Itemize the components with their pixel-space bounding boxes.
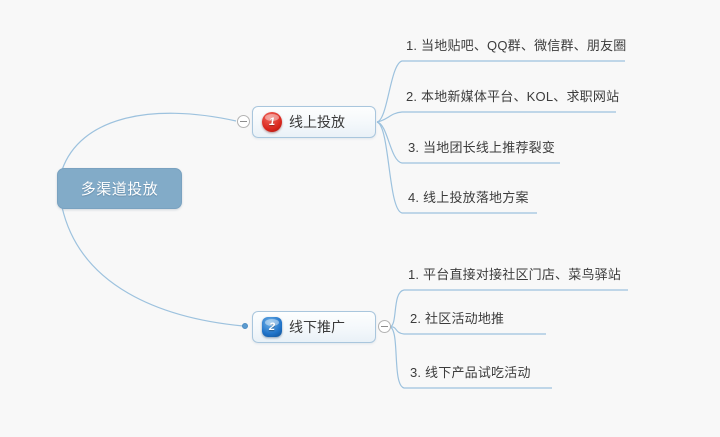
leaf-node[interactable]: 1. 当地贴吧、QQ群、微信群、朋友圈 <box>400 34 630 56</box>
leaf-node-label: 4. 线上投放落地方案 <box>402 187 533 208</box>
edge-branch-0-leaf-1 <box>377 112 616 122</box>
leaf-node[interactable]: 4. 线上投放落地方案 <box>402 186 533 208</box>
leaf-node[interactable]: 1. 平台直接对接社区门店、菜鸟驿站 <box>402 263 625 285</box>
leaf-node[interactable]: 3. 线下产品试吃活动 <box>404 361 535 383</box>
branch-node-label-offline: 线下推广 <box>289 317 345 337</box>
leaf-node-label: 2. 本地新媒体平台、KOL、求职网站 <box>400 86 623 107</box>
root-node[interactable]: 多渠道投放 <box>57 168 182 209</box>
branch-node-online[interactable]: 1 线上投放 <box>252 106 376 138</box>
leaf-node[interactable]: 2. 本地新媒体平台、KOL、求职网站 <box>400 85 623 107</box>
badge-number-2-icon: 2 <box>262 317 282 337</box>
edge-root-to-branch-0 <box>62 113 236 170</box>
collapse-toggle-icon-branch-0[interactable] <box>237 115 250 128</box>
mindmap-canvas: 多渠道投放 1 线上投放 1. 当地贴吧、QQ群、微信群、朋友圈 2. 本地新媒… <box>0 0 720 437</box>
leaf-node-label: 3. 线下产品试吃活动 <box>404 362 535 383</box>
badge-number-1-icon: 1 <box>262 112 282 132</box>
branch-node-offline[interactable]: 2 线下推广 <box>252 311 376 343</box>
leaf-node-label: 1. 平台直接对接社区门店、菜鸟驿站 <box>402 264 625 285</box>
branch-connector-dot <box>242 323 248 329</box>
leaf-node[interactable]: 3. 当地团长线上推荐裂变 <box>402 136 559 158</box>
leaf-node-label: 2. 社区活动地推 <box>404 308 508 329</box>
branch-node-label-online: 线上投放 <box>289 112 345 132</box>
collapse-toggle-icon-branch-1[interactable] <box>378 320 391 333</box>
leaf-node[interactable]: 2. 社区活动地推 <box>404 307 508 329</box>
edge-root-to-branch-1 <box>62 207 243 326</box>
root-node-label: 多渠道投放 <box>81 178 159 199</box>
leaf-node-label: 1. 当地贴吧、QQ群、微信群、朋友圈 <box>400 35 630 56</box>
mindmap-edges <box>0 0 720 437</box>
leaf-node-label: 3. 当地团长线上推荐裂变 <box>402 137 559 158</box>
